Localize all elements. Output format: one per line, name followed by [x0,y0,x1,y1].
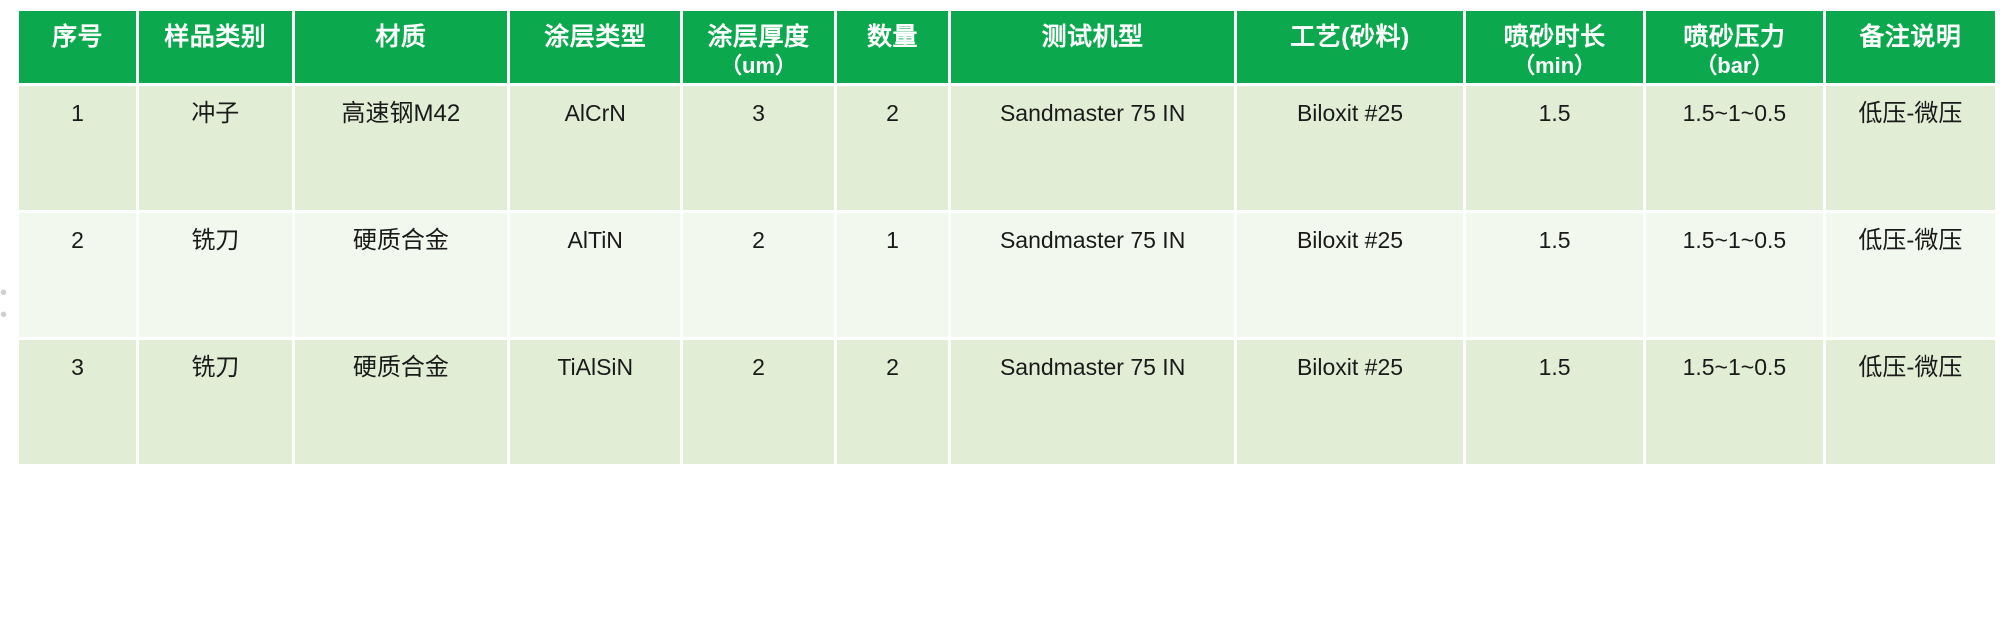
cell-sample-type[interactable]: 冲子 [139,86,292,210]
column-header-blast-pressure[interactable]: 喷砂压力（bar） [1646,11,1823,83]
cell-process-media[interactable]: Biloxit #25 [1237,213,1463,337]
header-row: 序号样品类别材质涂层类型涂层厚度（um）数量测试机型工艺(砂料)喷砂时长（min… [19,11,1995,83]
cell-test-machine[interactable]: Sandmaster 75 IN [951,340,1233,464]
column-header-sample-type[interactable]: 样品类别 [139,11,292,83]
cell-quantity[interactable]: 2 [837,86,949,210]
column-header-index[interactable]: 序号 [19,11,136,83]
column-header-label: 喷砂压力 [1683,23,1785,51]
cell-material[interactable]: 硬质合金 [295,340,507,464]
column-header-label: 工艺(砂料) [1290,23,1410,51]
column-header-label: 数量 [867,23,918,51]
table-row[interactable]: 2铣刀硬质合金AlTiN21Sandmaster 75 INBiloxit #2… [19,213,1995,337]
cell-sample-type[interactable]: 铣刀 [139,340,292,464]
cell-index[interactable]: 1 [19,86,136,210]
column-header-process-media[interactable]: 工艺(砂料) [1237,11,1463,83]
column-header-label: 涂层类型 [544,23,646,51]
cell-index[interactable]: 3 [19,340,136,464]
column-header-label: 样品类别 [164,23,266,51]
cell-blast-pressure[interactable]: 1.5~1~0.5 [1646,340,1823,464]
table-row[interactable]: 1冲子高速钢M42AlCrN32Sandmaster 75 INBiloxit … [19,86,1995,210]
cell-coating-thickness[interactable]: 2 [683,213,833,337]
cell-remark[interactable]: 低压-微压 [1826,86,1995,210]
column-header-blast-time[interactable]: 喷砂时长（min） [1466,11,1643,83]
cell-blast-pressure[interactable]: 1.5~1~0.5 [1646,213,1823,337]
column-header-coating-type[interactable]: 涂层类型 [510,11,680,83]
cell-test-machine[interactable]: Sandmaster 75 IN [951,86,1233,210]
sample-test-table: 序号样品类别材质涂层类型涂层厚度（um）数量测试机型工艺(砂料)喷砂时长（min… [16,8,1998,467]
cell-blast-time[interactable]: 1.5 [1466,340,1643,464]
left-edge-crop-artifact: •• [0,282,14,328]
column-header-unit: （um） [685,53,831,79]
cell-coating-thickness[interactable]: 3 [683,86,833,210]
table-body: 1冲子高速钢M42AlCrN32Sandmaster 75 INBiloxit … [19,86,1995,464]
spreadsheet-canvas: •• 序号样品类别材质涂层类型涂层厚度（um）数量测试机型工艺(砂料)喷砂时长（… [0,0,2015,637]
cell-coating-type[interactable]: AlTiN [510,213,680,337]
column-header-unit: （bar） [1648,53,1821,79]
column-header-label: 序号 [52,23,103,51]
column-header-quantity[interactable]: 数量 [837,11,949,83]
cell-blast-time[interactable]: 1.5 [1466,213,1643,337]
column-header-remark[interactable]: 备注说明 [1826,11,1995,83]
cell-quantity[interactable]: 2 [837,340,949,464]
column-header-label: 涂层厚度 [707,23,809,51]
column-header-material[interactable]: 材质 [295,11,507,83]
cell-blast-time[interactable]: 1.5 [1466,86,1643,210]
cell-test-machine[interactable]: Sandmaster 75 IN [951,213,1233,337]
cell-blast-pressure[interactable]: 1.5~1~0.5 [1646,86,1823,210]
cell-sample-type[interactable]: 铣刀 [139,213,292,337]
cell-coating-type[interactable]: AlCrN [510,86,680,210]
cell-process-media[interactable]: Biloxit #25 [1237,86,1463,210]
cell-remark[interactable]: 低压-微压 [1826,340,1995,464]
cell-material[interactable]: 硬质合金 [295,213,507,337]
cell-material[interactable]: 高速钢M42 [295,86,507,210]
column-header-label: 备注说明 [1859,23,1961,51]
cell-index[interactable]: 2 [19,213,136,337]
column-header-coating-thickness[interactable]: 涂层厚度（um） [683,11,833,83]
column-header-label: 材质 [375,23,426,51]
table-header: 序号样品类别材质涂层类型涂层厚度（um）数量测试机型工艺(砂料)喷砂时长（min… [19,11,1995,83]
cell-remark[interactable]: 低压-微压 [1826,213,1995,337]
cell-quantity[interactable]: 1 [837,213,949,337]
column-header-label: 喷砂时长 [1504,23,1606,51]
column-header-label: 测试机型 [1042,23,1144,51]
column-header-test-machine[interactable]: 测试机型 [951,11,1233,83]
cell-process-media[interactable]: Biloxit #25 [1237,340,1463,464]
cell-coating-thickness[interactable]: 2 [683,340,833,464]
column-header-unit: （min） [1468,53,1641,79]
table-row[interactable]: 3铣刀硬质合金TiAlSiN22Sandmaster 75 INBiloxit … [19,340,1995,464]
cell-coating-type[interactable]: TiAlSiN [510,340,680,464]
